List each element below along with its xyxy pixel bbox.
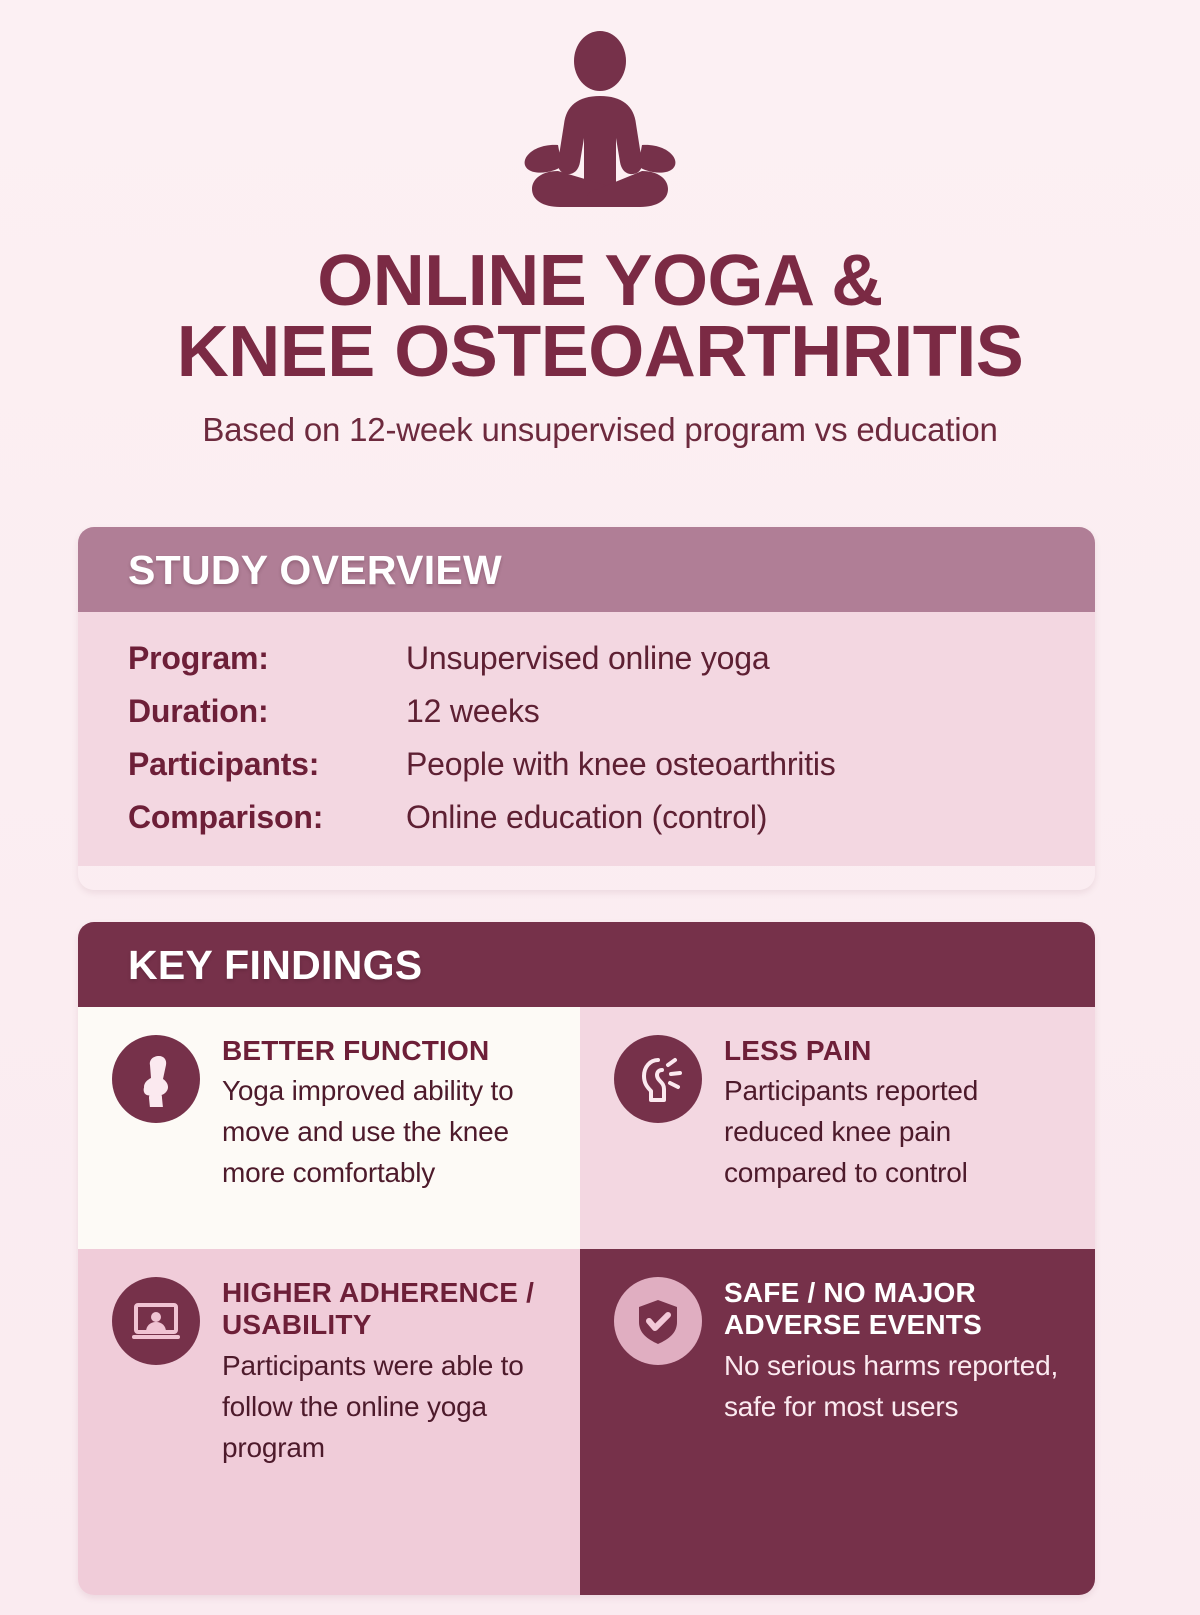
overview-row: Duration: 12 weeks [78,693,1095,730]
finding-description: Participants were able to follow the onl… [222,1346,560,1469]
overview-label: Participants: [128,746,406,783]
page-subtitle: Based on 12-week unsupervised program vs… [0,411,1200,449]
overview-label: Program: [128,640,406,677]
finding-title: BETTER FUNCTION [222,1035,560,1067]
finding-item-better-function: BETTER FUNCTION Yoga improved ability to… [78,1007,580,1249]
overview-value: 12 weeks [406,693,540,730]
study-overview-card: STUDY OVERVIEW Program: Unsupervised onl… [78,527,1095,890]
knee-joint-icon-wrap [112,1035,200,1123]
overview-label: Comparison: [128,799,406,836]
laptop-person-icon [127,1292,185,1350]
shield-check-icon [630,1293,686,1349]
yoga-lotus-figure-icon [500,28,700,220]
key-findings-card: KEY FINDINGS BETTER FUNCTION Yoga improv… [78,922,1095,1595]
knee-joint-icon [128,1051,184,1107]
knee-pain-icon [630,1051,686,1107]
overview-value: Unsupervised online yoga [406,640,769,677]
title-line-2: KNEE OSTEOARTHRITIS [0,317,1200,388]
finding-item-less-pain: LESS PAIN Participants reported reduced … [580,1007,1095,1249]
hero-section: ONLINE YOGA & KNEE OSTEOARTHRITIS Based … [0,0,1200,449]
finding-title: SAFE / NO MAJOR ADVERSE EVENTS [724,1277,1075,1342]
overview-row: Participants: People with knee osteoarth… [78,746,1095,783]
overview-value: People with knee osteoarthritis [406,746,836,783]
shield-check-icon-wrap [614,1277,702,1365]
overview-row: Program: Unsupervised online yoga [78,640,1095,677]
overview-row: Comparison: Online education (control) [78,799,1095,836]
finding-description: No serious harms reported, safe for most… [724,1346,1075,1428]
title-line-1: ONLINE YOGA & [0,246,1200,317]
knee-pain-icon-wrap [614,1035,702,1123]
key-findings-header: KEY FINDINGS [78,922,1095,1007]
overview-label: Duration: [128,693,406,730]
finding-description: Participants reported reduced knee pain … [724,1071,1075,1194]
finding-description: Yoga improved ability to move and use th… [222,1071,560,1194]
infographic-page: ONLINE YOGA & KNEE OSTEOARTHRITIS Based … [0,0,1200,1615]
finding-title: HIGHER ADHERENCE / USABILITY [222,1277,560,1342]
overview-value: Online education (control) [406,799,767,836]
finding-title: LESS PAIN [724,1035,1075,1067]
finding-item-safe-no-adverse-events: SAFE / NO MAJOR ADVERSE EVENTS No seriou… [580,1249,1095,1595]
study-overview-header: STUDY OVERVIEW [78,527,1095,612]
finding-text: BETTER FUNCTION Yoga improved ability to… [222,1033,560,1194]
key-findings-grid: BETTER FUNCTION Yoga improved ability to… [78,1007,1095,1595]
finding-text: LESS PAIN Participants reported reduced … [724,1033,1075,1194]
finding-item-higher-adherence: HIGHER ADHERENCE / USABILITY Participant… [78,1249,580,1595]
study-overview-body: Program: Unsupervised online yoga Durati… [78,612,1095,866]
page-title: ONLINE YOGA & KNEE OSTEOARTHRITIS [0,246,1200,389]
finding-text: SAFE / NO MAJOR ADVERSE EVENTS No seriou… [724,1275,1075,1428]
laptop-person-icon-wrap [112,1277,200,1365]
finding-text: HIGHER ADHERENCE / USABILITY Participant… [222,1275,560,1469]
